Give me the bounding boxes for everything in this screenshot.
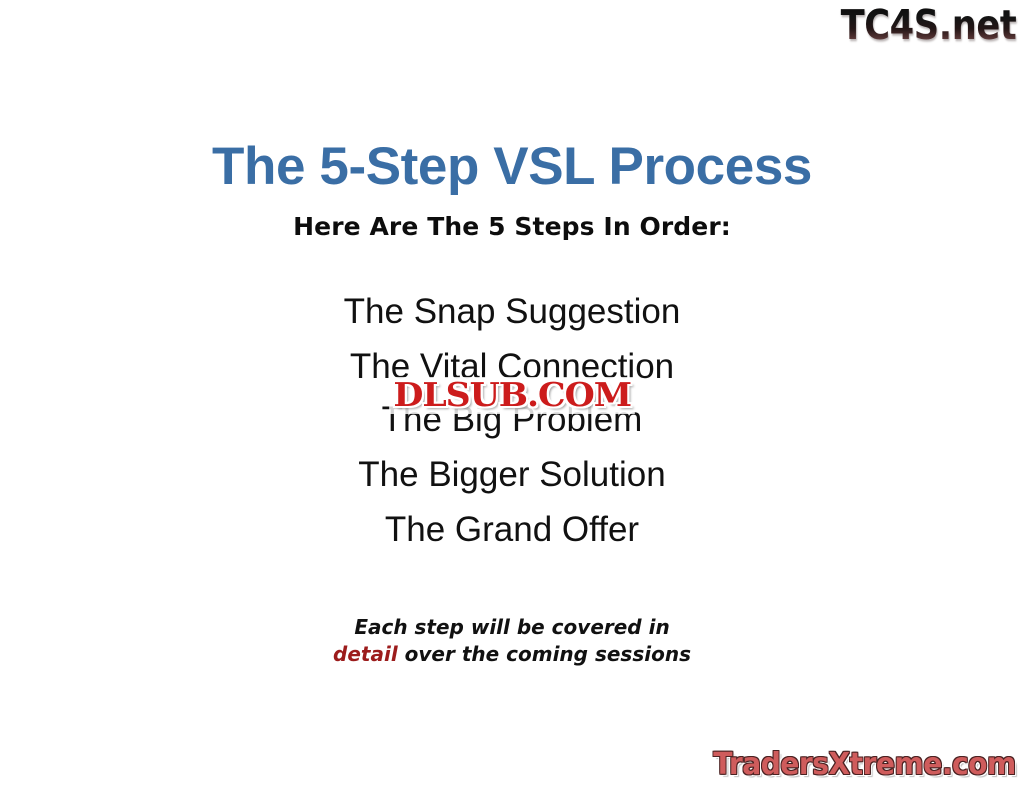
slide-canvas: TC4S.net The 5-Step VSL Process Here Are… (0, 0, 1024, 791)
step-item-4: The Bigger Solution (0, 451, 1024, 498)
footnote-accent-word: detail (333, 642, 398, 666)
steps-list: The Snap Suggestion The Vital Connection… (0, 288, 1024, 553)
footnote-line-2-rest: over the coming sessions (398, 642, 691, 666)
step-item-5: The Grand Offer (0, 506, 1024, 553)
step-item-3: The Big Problem (0, 396, 1024, 443)
step-item-1: The Snap Suggestion (0, 288, 1024, 335)
footnote: Each step will be covered in detail over… (0, 614, 1024, 668)
footnote-line-2: detail over the coming sessions (0, 641, 1024, 668)
site-logo-tradersxtreme: TradersXtreme.com (714, 747, 1016, 783)
brand-logo-tc4s: TC4S.net (840, 2, 1016, 48)
footnote-line-1: Each step will be covered in (0, 614, 1024, 641)
page-title: The 5-Step VSL Process (0, 137, 1024, 197)
step-item-2: The Vital Connection (0, 343, 1024, 390)
page-subtitle: Here Are The 5 Steps In Order: (0, 211, 1024, 243)
